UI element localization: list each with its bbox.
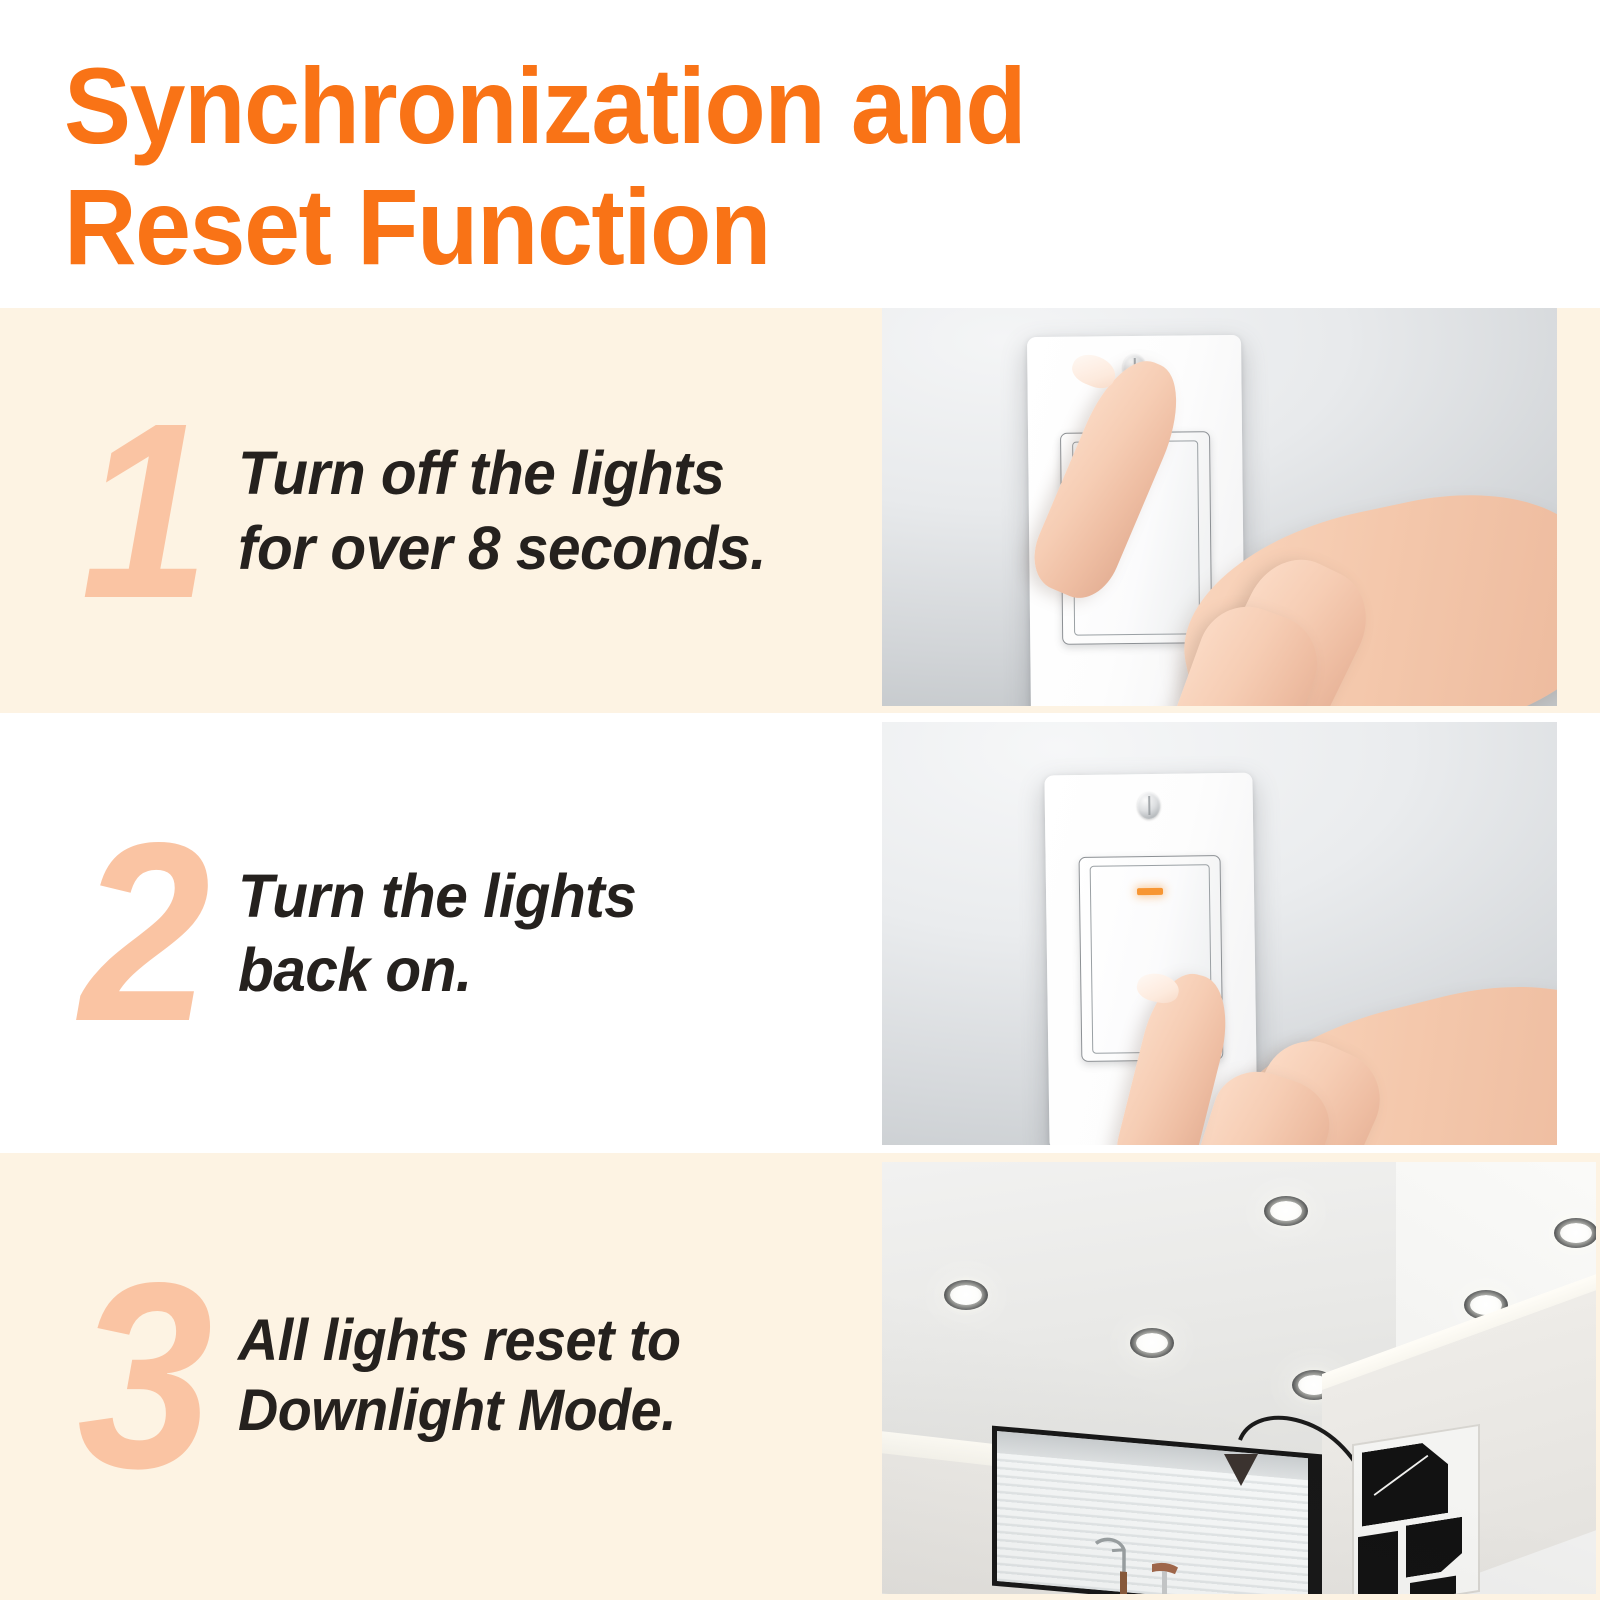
step-number-1: 1 <box>76 408 214 613</box>
step-text-3: All lights reset to Downlight Mode. <box>238 1306 681 1448</box>
downlight-icon <box>944 1280 988 1310</box>
step-number-3: 3 <box>76 1268 214 1485</box>
artwork-shape-d <box>1410 1576 1456 1594</box>
artwork-shape-c <box>1406 1517 1462 1578</box>
artwork-shape-a <box>1362 1439 1448 1527</box>
room-scene <box>882 1162 1596 1594</box>
step-3-text-column: 3 All lights reset to Downlight Mode. <box>0 1153 882 1600</box>
step-3-photo <box>882 1162 1596 1594</box>
step-1-text-column: 1 Turn off the lights for over 8 seconds… <box>0 308 882 713</box>
led-indicator-icon <box>1137 888 1163 895</box>
step-1-photo <box>882 308 1557 706</box>
screw-icon <box>1137 792 1160 819</box>
downlight-icon <box>1554 1218 1596 1248</box>
artwork-shape-b <box>1358 1531 1398 1594</box>
page-title: Synchronization and Reset Function <box>64 46 1273 288</box>
bicycle-silhouette <box>1090 1529 1210 1594</box>
downlight-icon <box>1264 1196 1308 1226</box>
infographic-page: Synchronization and Reset Function 1 Tur… <box>0 0 1600 1600</box>
step-number-2: 2 <box>76 828 214 1037</box>
step-2-photo <box>882 722 1557 1145</box>
wall-artwork <box>1352 1424 1480 1594</box>
downlight-icon <box>1130 1328 1174 1358</box>
title-band: Synchronization and Reset Function <box>0 0 1600 308</box>
step-text-2: Turn the lights back on. <box>238 859 636 1008</box>
step-2-text-column: 2 Turn the lights back on. <box>0 713 882 1153</box>
step-text-1: Turn off the lights for over 8 seconds. <box>238 436 766 585</box>
